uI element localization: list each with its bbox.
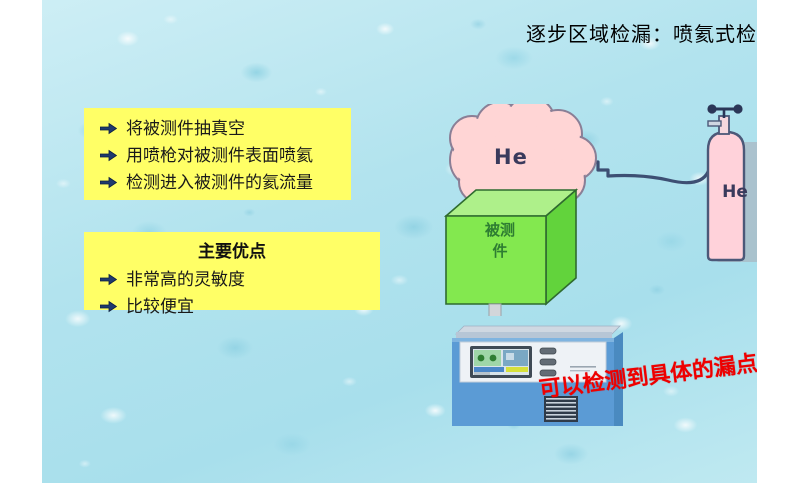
- cube-label-line2: 件: [492, 242, 507, 260]
- arrow-right-icon: [100, 120, 117, 133]
- arrow-right-icon: [100, 147, 117, 160]
- list-item-label: 将被测件抽真空: [126, 114, 245, 139]
- list-item: 将被测件抽真空: [84, 113, 351, 140]
- list-item-label: 检测进入被测件的氦流量: [126, 168, 313, 193]
- cylinder-label: He: [715, 182, 755, 202]
- cube-label-line1: 被测: [485, 221, 515, 239]
- list-item: 非常高的灵敏度: [84, 264, 380, 291]
- cube-label: 被测 件: [468, 220, 532, 262]
- merits-heading: 主要优点: [84, 232, 380, 264]
- arrow-right-icon: [100, 298, 117, 311]
- cloud-label: He: [494, 145, 528, 169]
- list-item-label: 用喷枪对被测件表面喷氦: [126, 141, 313, 166]
- list-item-label: 非常高的灵敏度: [126, 265, 245, 290]
- arrow-right-icon: [100, 174, 117, 187]
- helium-gas-cylinder: [690, 98, 757, 308]
- list-item: 比较便宜: [84, 291, 380, 318]
- list-item: 用喷枪对被测件表面喷氦: [84, 140, 351, 167]
- merits-callout-box: 主要优点 非常高的灵敏度 比较便宜: [84, 232, 380, 310]
- list-item: 检测进入被测件的氦流量: [84, 167, 351, 194]
- list-item-label: 比较便宜: [126, 292, 194, 317]
- slide-canvas: 逐步区域检漏：喷氦式检漏 将被测件抽真空 用喷枪对被测件表面喷氦: [42, 0, 757, 483]
- arrow-right-icon: [100, 271, 117, 284]
- steps-callout-box: 将被测件抽真空 用喷枪对被测件表面喷氦 检测进入被测件的氦流量: [84, 108, 351, 200]
- page-title: 逐步区域检漏：喷氦式检漏: [502, 18, 757, 47]
